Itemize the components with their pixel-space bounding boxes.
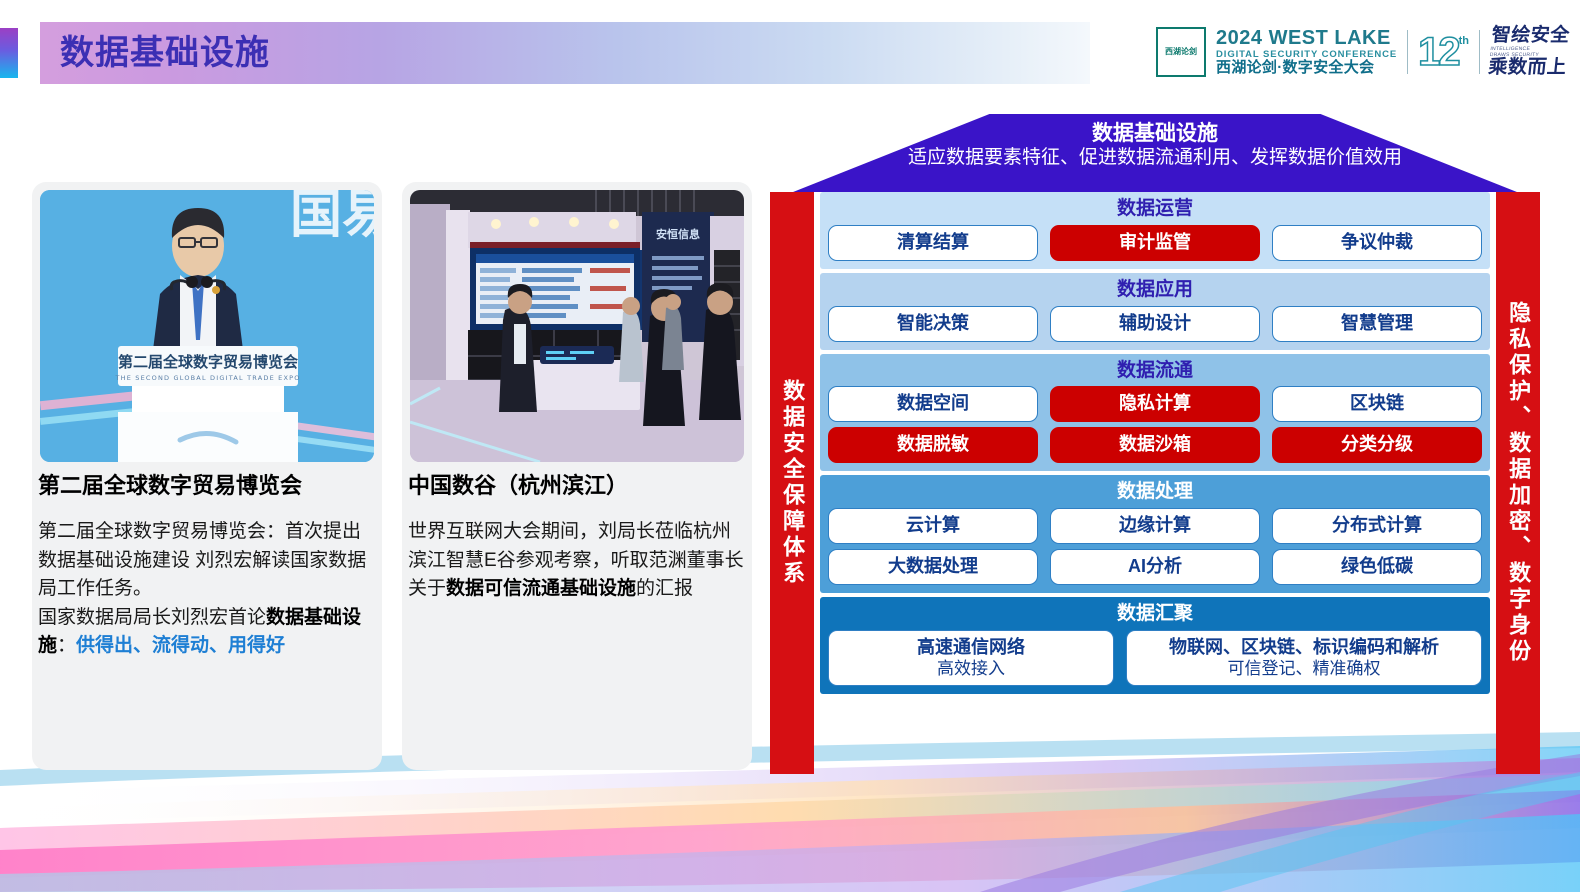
cell-yun-jisuan[interactable]: 云计算 bbox=[828, 508, 1038, 544]
layer-title: 数据运营 bbox=[828, 197, 1482, 221]
right-pillar-label: 隐私保护、数据加密、数字身份 bbox=[1506, 301, 1530, 665]
cell-label: 数据空间 bbox=[897, 393, 969, 415]
data-infrastructure-diagram: 数据基础设施 适应数据要素特征、促进数据流通利用、发挥数据价值效用 数据安全保障… bbox=[770, 114, 1540, 774]
page-title: 数据基础设施 bbox=[60, 27, 270, 79]
cell-shuju-tuomin[interactable]: 数据脱敏 bbox=[828, 427, 1038, 463]
card-body-text-1: 第二届全球数字贸易博览会：首次提出数据基础设施建设 刘烈宏解读国家数据局工作任务… bbox=[38, 521, 366, 599]
layer-row: 智能决策 辅助设计 智慧管理 bbox=[828, 306, 1482, 342]
card-body-bold-1: 数据可信流通基础设施 bbox=[446, 578, 636, 599]
cell-label: 争议仲裁 bbox=[1341, 232, 1413, 254]
logo-divider-2 bbox=[1479, 30, 1480, 74]
layer-title: 数据应用 bbox=[828, 278, 1482, 302]
cell-sublabel: 高效接入 bbox=[937, 659, 1005, 680]
info-card-expo: 国易 第二届全球数字贸易博览会 THE SECOND GLOBAL DIGITA… bbox=[32, 182, 382, 770]
slogan-logo: 智绘安全 INTELLIGENCE DRAWS SECURITY 乘数而上 bbox=[1490, 26, 1568, 78]
layer-title: 数据流通 bbox=[828, 359, 1482, 383]
card-body: 第二届全球数字贸易博览会：首次提出数据基础设施建设 刘烈宏解读国家数据局工作任务… bbox=[38, 518, 378, 661]
photo-illustration-podium: 国易 第二届全球数字贸易博览会 THE SECOND GLOBAL DIGITA… bbox=[40, 190, 374, 462]
cell-fenbushi-jisuan[interactable]: 分布式计算 bbox=[1272, 508, 1482, 544]
cell-yinsi-jisuan[interactable]: 隐私计算 bbox=[1050, 386, 1260, 422]
seal-text: 西湖论剑 bbox=[1165, 48, 1197, 56]
slogan-line-1: 智绘安全 bbox=[1491, 26, 1571, 46]
cell-zhineng-juece[interactable]: 智能决策 bbox=[828, 306, 1038, 342]
slogan-en-1: INTELLIGENCE bbox=[1490, 46, 1569, 52]
cell-label: 云计算 bbox=[906, 515, 960, 537]
cell-fenlei-fenji[interactable]: 分类分级 bbox=[1272, 427, 1482, 463]
cell-gaosu-tongxin-wangluo[interactable]: 高速通信网络 高效接入 bbox=[828, 630, 1114, 687]
cell-sublabel: 可信登记、精准确权 bbox=[1228, 659, 1381, 680]
cell-label: AI分析 bbox=[1128, 556, 1182, 578]
layer-data-operation: 数据运营 清算结算 审计监管 争议仲裁 bbox=[820, 192, 1490, 269]
card-body: 世界互联网大会期间，刘局长莅临杭州滨江智慧E谷参观考察，听取范渊董事长关于数据可… bbox=[408, 518, 748, 604]
svg-text:国易: 国易 bbox=[290, 190, 374, 245]
logo-line-1: 2024 WEST LAKE bbox=[1216, 28, 1397, 49]
edition-number: 12 bbox=[1418, 32, 1459, 72]
card-body-text-2: 的汇报 bbox=[636, 578, 693, 599]
right-pillar-privacy: 隐私保护、数据加密、数字身份 bbox=[1496, 192, 1540, 774]
cell-zhihui-guanli[interactable]: 智慧管理 bbox=[1272, 306, 1482, 342]
layer-row: 数据脱敏 数据沙箱 分类分级 bbox=[828, 427, 1482, 463]
layer-title: 数据处理 bbox=[828, 480, 1482, 504]
card-title: 第二届全球数字贸易博览会 bbox=[38, 472, 378, 500]
cell-label: 物联网、区块链、标识编码和解析 bbox=[1169, 637, 1439, 659]
cell-label: 隐私计算 bbox=[1119, 393, 1191, 415]
layer-data-application: 数据应用 智能决策 辅助设计 智慧管理 bbox=[820, 273, 1490, 350]
cell-zhengyi-zhongcai[interactable]: 争议仲裁 bbox=[1272, 225, 1482, 261]
card-body-text-3: ： bbox=[57, 635, 76, 656]
edition-badge: 12 th bbox=[1418, 32, 1469, 72]
roof-title: 数据基础设施 bbox=[770, 122, 1540, 147]
card-body-text-2: 国家数据局局长刘烈宏首论 bbox=[38, 607, 266, 628]
cell-label: 绿色低碳 bbox=[1341, 556, 1413, 578]
left-pillar-data-security: 数据安全保障体系 bbox=[770, 192, 814, 774]
cell-label: 数据脱敏 bbox=[897, 434, 969, 456]
cell-ai-fenxi[interactable]: AI分析 bbox=[1050, 549, 1260, 585]
logo-line-3: 西湖论剑·数字安全大会 bbox=[1216, 60, 1397, 76]
cell-bianyuan-jisuan[interactable]: 边缘计算 bbox=[1050, 508, 1260, 544]
svg-text:THE SECOND GLOBAL DIGITAL TRAD: THE SECOND GLOBAL DIGITAL TRADE EXPO bbox=[114, 374, 300, 382]
cell-shuju-shaxiang[interactable]: 数据沙箱 bbox=[1050, 427, 1260, 463]
svg-text:安恒信息: 安恒信息 bbox=[656, 227, 700, 241]
info-card-datavalley: 安恒信息 bbox=[402, 182, 752, 770]
title-accent-bar bbox=[0, 28, 18, 78]
layer-title: 数据汇聚 bbox=[828, 602, 1482, 626]
cell-label: 审计监管 bbox=[1119, 232, 1191, 254]
cell-shenji-jianguan[interactable]: 审计监管 bbox=[1050, 225, 1260, 261]
west-lake-seal-icon: 西湖论剑 bbox=[1156, 27, 1206, 77]
cell-lvse-ditan[interactable]: 绿色低碳 bbox=[1272, 549, 1482, 585]
layer-row: 数据空间 隐私计算 区块链 bbox=[828, 386, 1482, 422]
roof-text: 数据基础设施 适应数据要素特征、促进数据流通利用、发挥数据价值效用 bbox=[770, 122, 1540, 170]
layer-data-processing: 数据处理 云计算 边缘计算 分布式计算 大数据处理 bbox=[820, 475, 1490, 593]
logo-wordmark: 2024 WEST LAKE DIGITAL SECURITY CONFEREN… bbox=[1216, 28, 1397, 75]
exhibition-hall-photo: 安恒信息 bbox=[410, 190, 744, 462]
podium-speech-photo: 国易 第二届全球数字贸易博览会 THE SECOND GLOBAL DIGITA… bbox=[40, 190, 374, 462]
cell-label: 智慧管理 bbox=[1341, 313, 1413, 335]
cell-label: 高速通信网络 bbox=[917, 637, 1025, 659]
layer-row: 高速通信网络 高效接入 物联网、区块链、标识编码和解析 可信登记、精准确权 bbox=[828, 630, 1482, 687]
edition-suffix: th bbox=[1459, 35, 1469, 47]
cell-label: 边缘计算 bbox=[1119, 515, 1191, 537]
cell-label: 大数据处理 bbox=[888, 556, 978, 578]
cell-qingsuan-jiesuan[interactable]: 清算结算 bbox=[828, 225, 1038, 261]
cell-qukuailian[interactable]: 区块链 bbox=[1272, 386, 1482, 422]
layer-row: 大数据处理 AI分析 绿色低碳 bbox=[828, 549, 1482, 585]
cell-label: 区块链 bbox=[1350, 393, 1404, 415]
conference-logo: 西湖论剑 2024 WEST LAKE DIGITAL SECURITY CON… bbox=[1156, 22, 1568, 82]
cell-dashuju-chuli[interactable]: 大数据处理 bbox=[828, 549, 1038, 585]
diagram-roof: 数据基础设施 适应数据要素特征、促进数据流通利用、发挥数据价值效用 bbox=[770, 114, 1540, 192]
photo-illustration-exhibition: 安恒信息 bbox=[410, 190, 744, 462]
left-pillar-label: 数据安全保障体系 bbox=[780, 379, 804, 587]
svg-text:第二届全球数字贸易博览会: 第二届全球数字贸易博览会 bbox=[118, 353, 298, 371]
cell-wulianwang-qukuailian[interactable]: 物联网、区块链、标识编码和解析 可信登记、精准确权 bbox=[1126, 630, 1482, 687]
layer-data-aggregation: 数据汇聚 高速通信网络 高效接入 物联网、区块链、标识编码和解析 可信登记、精准… bbox=[820, 597, 1490, 694]
roof-subtitle: 适应数据要素特征、促进数据流通利用、发挥数据价值效用 bbox=[770, 147, 1540, 170]
cell-fuzhu-sheji[interactable]: 辅助设计 bbox=[1050, 306, 1260, 342]
diagram-layers: 数据运营 清算结算 审计监管 争议仲裁 数据应用 bbox=[814, 192, 1496, 774]
card-title: 中国数谷（杭州滨江） bbox=[408, 472, 748, 500]
cell-label: 分布式计算 bbox=[1332, 515, 1422, 537]
layer-row: 云计算 边缘计算 分布式计算 bbox=[828, 508, 1482, 544]
page-header: 数据基础设施 西湖论剑 2024 WEST LAKE DIGITAL SECUR… bbox=[0, 0, 1580, 104]
slogan-text: 智绘安全 INTELLIGENCE DRAWS SECURITY 乘数而上 bbox=[1487, 26, 1571, 78]
cell-label: 分类分级 bbox=[1341, 434, 1413, 456]
logo-divider-1 bbox=[1407, 30, 1408, 74]
cell-shuju-kongjian[interactable]: 数据空间 bbox=[828, 386, 1038, 422]
layer-data-circulation: 数据流通 数据空间 隐私计算 区块链 数据脱敏 bbox=[820, 354, 1490, 472]
cell-label: 数据沙箱 bbox=[1119, 434, 1191, 456]
diagram-body: 数据安全保障体系 数据运营 清算结算 审计监管 争议仲裁 bbox=[770, 192, 1540, 774]
slogan-line-2: 乘数而上 bbox=[1487, 58, 1567, 78]
layer-row: 清算结算 审计监管 争议仲裁 bbox=[828, 225, 1482, 261]
cell-label: 清算结算 bbox=[897, 232, 969, 254]
card-body-highlight: 供得出、流得动、用得好 bbox=[76, 635, 285, 656]
cell-label: 辅助设计 bbox=[1119, 313, 1191, 335]
cell-label: 智能决策 bbox=[897, 313, 969, 335]
